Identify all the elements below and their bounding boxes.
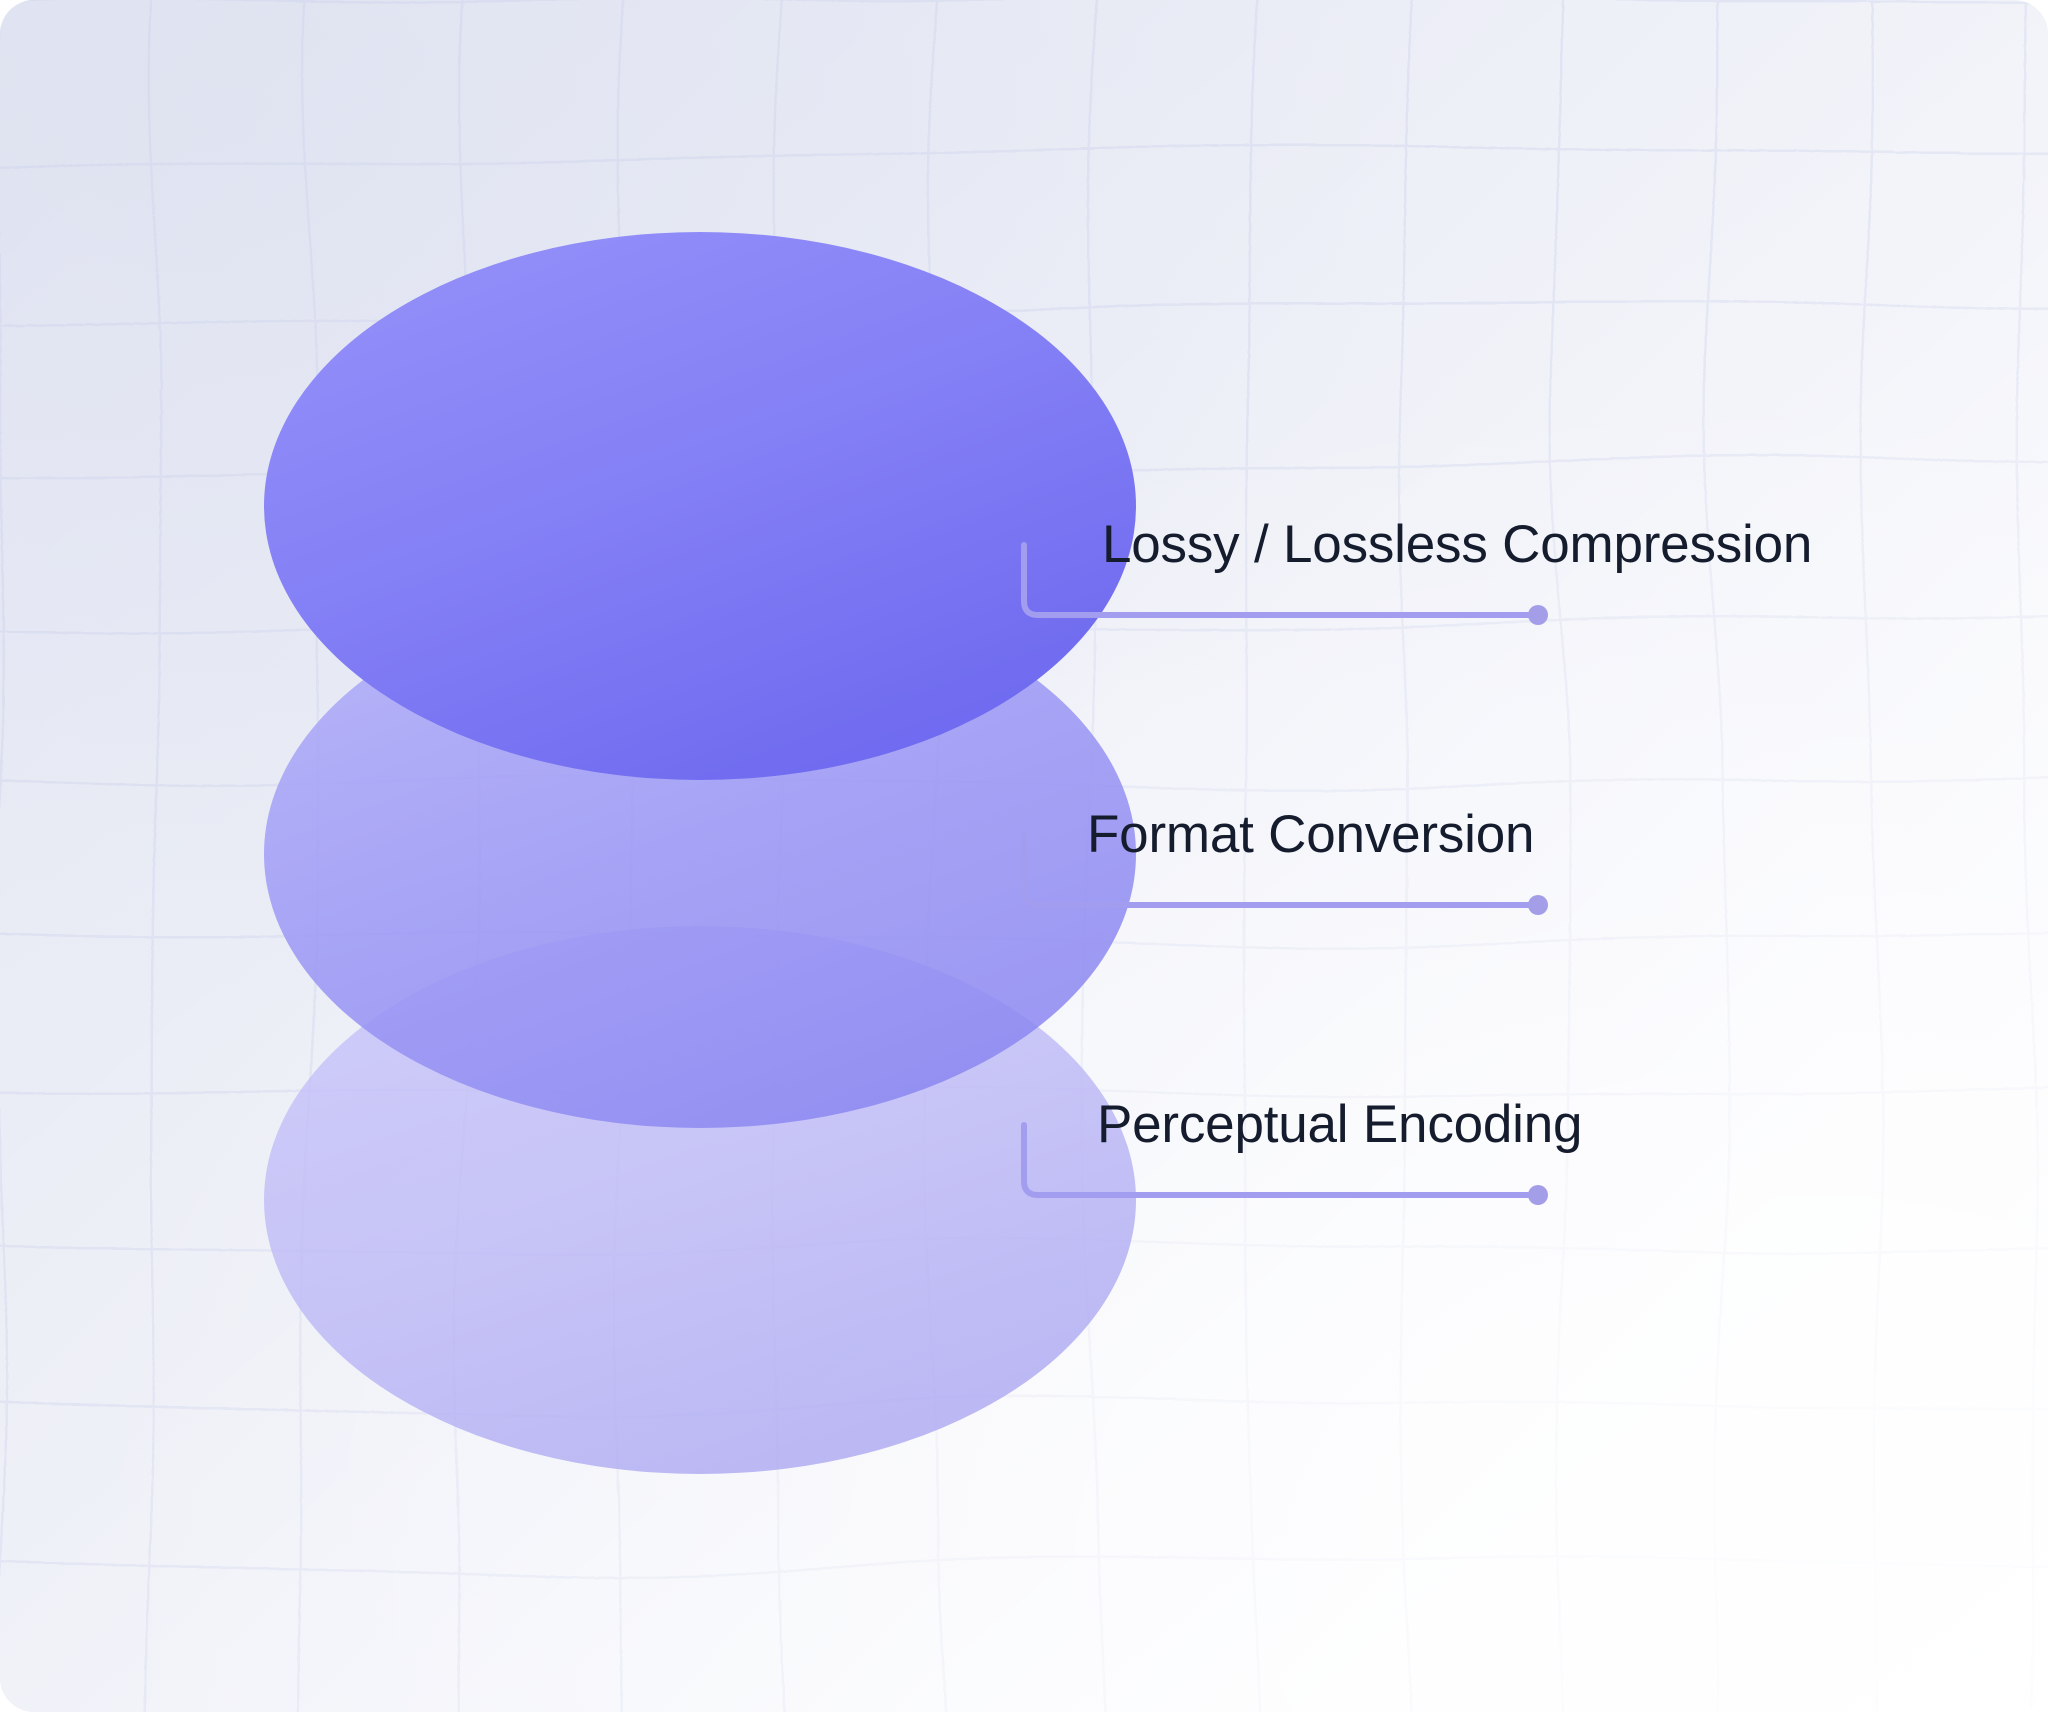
connector-dot-compression xyxy=(1528,605,1548,625)
connector-dot-format xyxy=(1528,895,1548,915)
callout-connectors xyxy=(0,0,2048,1712)
connector-dot-perceptual xyxy=(1528,1185,1548,1205)
diagram-card: Lossy / Lossless Compression Format Conv… xyxy=(0,0,2048,1712)
callout-label-compression: Lossy / Lossless Compression xyxy=(1102,518,1812,571)
callout-label-perceptual: Perceptual Encoding xyxy=(1097,1098,1582,1151)
diagram-stage: Lossy / Lossless Compression Format Conv… xyxy=(0,0,2048,1712)
callout-label-format: Format Conversion xyxy=(1087,808,1534,861)
